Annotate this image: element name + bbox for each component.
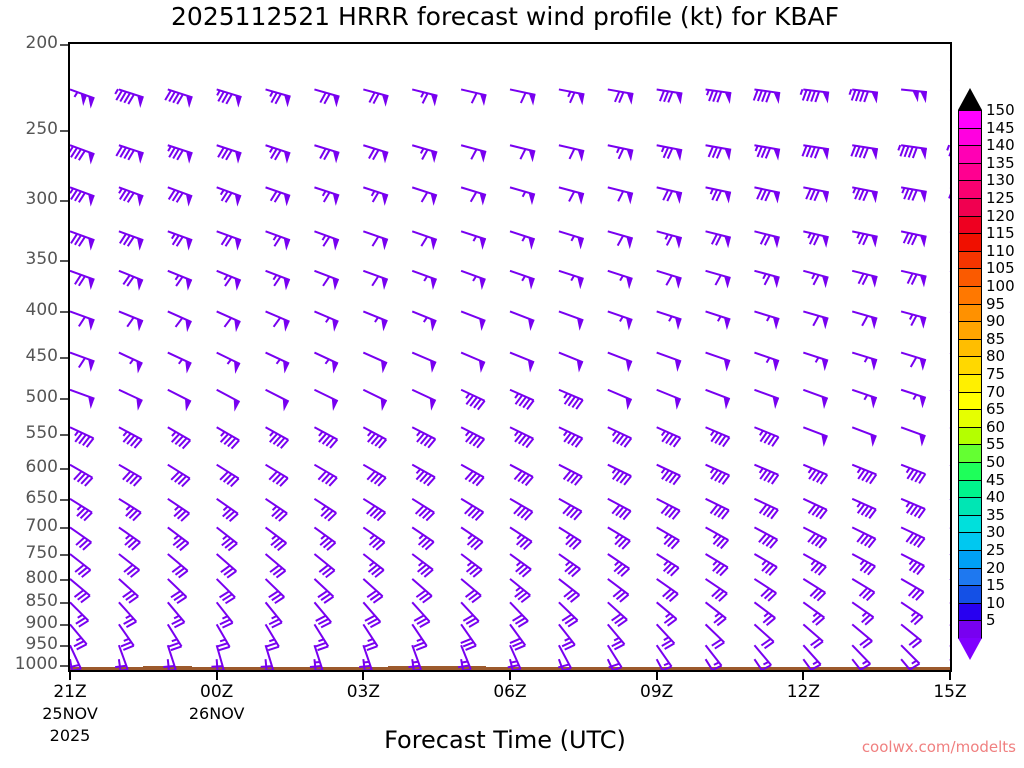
wind-barb xyxy=(947,145,950,160)
wind-barb-half xyxy=(662,431,665,436)
wind-barb-pennant xyxy=(529,193,535,205)
wind-barb xyxy=(706,579,728,601)
wind-barb xyxy=(461,499,483,521)
colorbar-under-arrow xyxy=(958,638,982,660)
wind-barb-pennant xyxy=(431,193,437,206)
wind-barb xyxy=(559,465,582,485)
wind-barb xyxy=(314,311,338,331)
wind-barb-full xyxy=(372,237,378,247)
wind-barb-pennant xyxy=(773,236,780,248)
colorbar-tick-label: 100 xyxy=(986,277,1015,295)
colorbar-tick-label: 145 xyxy=(986,119,1015,137)
wind-barb-half xyxy=(517,535,521,539)
wind-barb xyxy=(168,427,191,448)
wind-barb-full xyxy=(521,93,526,103)
wind-barb-full xyxy=(664,147,669,157)
wind-barb xyxy=(657,624,675,649)
y-axis-tick-label: 350 xyxy=(26,249,58,269)
wind-barb-full xyxy=(709,90,713,101)
y-axis-tick-mark xyxy=(60,260,68,262)
wind-barb-pennant xyxy=(912,91,919,103)
wind-barb xyxy=(412,353,436,373)
x-axis-tick-label: 00Z xyxy=(177,682,257,702)
wind-barb xyxy=(70,527,91,549)
y-axis-tick-label: 400 xyxy=(26,300,58,320)
wind-barb xyxy=(412,271,436,290)
x-axis-tick-mark xyxy=(656,672,658,680)
wind-barb xyxy=(901,271,926,288)
wind-barb xyxy=(217,390,240,412)
wind-barb-full xyxy=(510,669,521,670)
wind-barb-half xyxy=(711,189,713,194)
y-axis-tick-mark xyxy=(60,602,68,604)
wind-barb-half xyxy=(224,506,228,510)
wind-barb-pennant xyxy=(919,396,925,409)
wind-barb xyxy=(119,579,138,603)
y-axis-tick-mark xyxy=(60,357,68,359)
wind-barb xyxy=(754,89,780,104)
colorbar-tick-label: 70 xyxy=(986,383,1005,401)
wind-barb xyxy=(608,527,630,549)
wind-barb xyxy=(852,645,870,670)
page-title: 2025112521 HRRR forecast wind profile (k… xyxy=(0,2,1010,31)
wind-barb-full xyxy=(663,190,668,200)
wind-barb-half xyxy=(168,146,171,151)
wind-barb xyxy=(559,231,584,249)
wind-barb-half xyxy=(909,560,913,564)
wind-barb xyxy=(412,390,436,411)
wind-barb xyxy=(510,231,535,249)
wind-barb-full xyxy=(315,643,326,647)
wind-barb-pennant xyxy=(871,317,877,329)
wind-barb-half xyxy=(419,562,423,566)
wind-barb-full xyxy=(766,92,770,103)
wind-barb xyxy=(168,602,185,627)
wind-barb-half xyxy=(664,637,669,640)
wind-barb xyxy=(412,527,434,549)
wind-barb xyxy=(803,390,827,409)
wind-barb xyxy=(504,659,516,670)
wind-barb xyxy=(217,427,240,448)
wind-barb-half xyxy=(857,503,860,508)
wind-barb xyxy=(852,602,873,624)
wind-barb-half xyxy=(175,506,179,510)
wind-barb xyxy=(510,465,533,486)
wind-barb-half xyxy=(270,148,273,153)
x-axis-title: Forecast Time (UTC) xyxy=(0,726,1010,754)
wind-barb-half xyxy=(714,662,719,664)
wind-barb xyxy=(852,499,876,519)
colorbar-over-arrow xyxy=(958,88,982,110)
wind-barb xyxy=(657,554,679,576)
wind-barb xyxy=(852,271,877,288)
wind-barb xyxy=(168,311,192,332)
wind-barb-full xyxy=(757,189,762,199)
wind-barb xyxy=(510,499,533,520)
wind-barb xyxy=(217,145,242,163)
wind-barb-full xyxy=(471,149,476,159)
wind-barb-pennant xyxy=(577,237,583,249)
x-axis-tick-mark xyxy=(949,672,951,680)
wind-barb xyxy=(461,465,484,486)
wind-barb xyxy=(559,554,580,576)
wind-barb-full xyxy=(79,317,85,326)
wind-barb-pennant xyxy=(529,150,536,162)
wind-barb-pennant xyxy=(627,93,634,105)
wind-barb-half xyxy=(370,535,374,539)
wind-barb-half xyxy=(764,613,768,617)
wind-barb-full xyxy=(813,316,818,326)
wind-barb-half xyxy=(223,536,227,540)
wind-barb-pennant xyxy=(822,92,829,104)
wind-barb-pennant xyxy=(626,277,632,290)
wind-barb-full xyxy=(859,190,864,200)
colorbar-cell xyxy=(958,497,982,516)
wind-barb-half xyxy=(863,661,868,664)
wind-barb-pennant xyxy=(773,276,779,288)
wind-barb-full xyxy=(512,642,522,646)
wind-barb xyxy=(266,89,291,107)
wind-barb xyxy=(363,145,388,163)
wind-barb-full xyxy=(814,190,819,200)
wind-barb xyxy=(70,187,94,206)
colorbar-cell xyxy=(958,321,982,340)
wind-barb xyxy=(901,187,927,202)
watermark: coolwx.com/modelts xyxy=(862,738,1016,756)
y-axis-tick-label: 250 xyxy=(26,119,58,139)
y-axis-tick-label: 850 xyxy=(26,591,58,611)
wind-barb xyxy=(461,89,486,106)
wind-barb-pennant xyxy=(479,237,485,250)
wind-barb-half xyxy=(849,89,851,94)
wind-barb xyxy=(412,624,427,650)
colorbar-tick-label: 105 xyxy=(986,259,1015,277)
wind-barb xyxy=(119,187,143,206)
wind-barb xyxy=(168,353,192,374)
wind-barb-half xyxy=(617,148,619,153)
wind-barb-full xyxy=(814,235,819,245)
wind-barb-half xyxy=(273,275,276,280)
wind-barb-half xyxy=(269,639,274,641)
wind-barb-full xyxy=(852,90,856,101)
wind-barb-pennant xyxy=(822,191,829,203)
wind-barb xyxy=(706,527,729,548)
wind-barb-half xyxy=(615,534,619,538)
wind-barb xyxy=(754,427,778,446)
wind-barb-full xyxy=(912,235,917,245)
wind-barb xyxy=(706,645,722,670)
wind-barb-full xyxy=(862,316,867,326)
wind-barb xyxy=(266,465,288,487)
wind-barb xyxy=(217,579,235,603)
wind-barb xyxy=(754,645,771,670)
wind-barb-full xyxy=(802,146,806,156)
wind-barb-pennant xyxy=(920,358,926,370)
wind-barb xyxy=(852,427,876,447)
wind-barb xyxy=(754,554,777,575)
wind-barb-full xyxy=(863,235,868,245)
wind-barb xyxy=(657,187,682,204)
wind-barb-full xyxy=(716,191,721,201)
wind-barb xyxy=(510,311,534,331)
wind-barb-pennant xyxy=(724,359,730,372)
wind-barb xyxy=(207,659,218,670)
wind-barb xyxy=(803,311,828,329)
wind-barb-pennant xyxy=(773,359,779,372)
wind-barb-half xyxy=(613,469,616,473)
wind-barb-half xyxy=(853,188,855,193)
y-axis-tick-label: 650 xyxy=(26,488,58,508)
y-axis-tick-label: 800 xyxy=(26,568,58,588)
wind-barb-half xyxy=(217,90,220,95)
wind-barb-half xyxy=(763,662,768,665)
wind-barb-half xyxy=(620,276,623,281)
wind-barb-half xyxy=(421,92,423,97)
wind-barb-half xyxy=(898,145,900,150)
wind-barb-full xyxy=(569,191,574,201)
wind-barb-full xyxy=(520,149,525,159)
wind-barb-full xyxy=(668,148,673,158)
wind-barb xyxy=(901,554,924,574)
wind-barb xyxy=(412,427,435,447)
wind-barb-full xyxy=(318,646,329,650)
colorbar-cell xyxy=(958,268,982,287)
wind-barb xyxy=(314,527,335,550)
wind-barb xyxy=(119,427,142,448)
wind-barb xyxy=(901,231,926,247)
wind-barb-pennant xyxy=(382,238,388,251)
plot-inner xyxy=(70,44,950,670)
wind-barb xyxy=(119,602,136,627)
wind-barb-pennant xyxy=(675,236,681,248)
wind-barb xyxy=(849,89,878,103)
wind-barb-half xyxy=(326,318,329,323)
wind-barb xyxy=(706,427,730,446)
wind-barb xyxy=(901,353,926,371)
wind-barb xyxy=(510,527,532,549)
wind-barb-full xyxy=(510,639,520,643)
wind-barb-half xyxy=(906,502,909,507)
wind-barb-half xyxy=(321,535,325,539)
wind-barb-full xyxy=(619,92,623,102)
wind-barb xyxy=(608,499,631,520)
wind-barb-full xyxy=(619,149,624,159)
wind-barb xyxy=(608,390,632,410)
wind-barb-pennant xyxy=(430,238,436,251)
wind-barb xyxy=(706,231,731,248)
wind-barb-pennant xyxy=(284,95,290,107)
y-axis-tick-label: 750 xyxy=(26,543,58,563)
wind-barb xyxy=(461,624,476,650)
wind-barb xyxy=(266,145,291,163)
wind-barb-half xyxy=(221,432,225,436)
wind-barb xyxy=(461,554,482,577)
wind-barb xyxy=(803,527,826,547)
colorbar-cell xyxy=(958,163,982,182)
wind-barb-pennant xyxy=(773,149,780,161)
wind-barb-half xyxy=(174,535,178,539)
wind-barb-half xyxy=(568,92,570,97)
x-axis-tick-label: 06Z xyxy=(470,682,550,702)
wind-barb-half xyxy=(323,191,326,196)
wind-barb-full xyxy=(615,91,619,101)
wind-barb-half xyxy=(417,469,421,473)
wind-barb-full xyxy=(860,147,864,157)
wind-barb xyxy=(217,554,237,578)
wind-barb xyxy=(168,499,190,521)
wind-barb-half xyxy=(910,314,913,319)
wind-barb xyxy=(70,624,87,649)
wind-barb-full xyxy=(757,147,761,157)
wind-barb-half xyxy=(816,358,819,363)
wind-barb xyxy=(510,271,535,290)
wind-barb xyxy=(314,499,336,521)
wind-barb xyxy=(852,353,877,371)
wind-barb-half xyxy=(417,639,422,641)
wind-barb xyxy=(754,579,776,601)
wind-barb-full xyxy=(664,91,668,101)
wind-barb xyxy=(217,353,240,374)
wind-barb-half xyxy=(130,359,133,363)
wind-barb-pennant xyxy=(725,149,732,161)
wind-barb xyxy=(314,624,328,650)
wind-barb-full xyxy=(121,642,131,646)
colorbar-cell xyxy=(958,233,982,252)
wind-barb-full xyxy=(169,643,180,647)
y-axis-tick-mark xyxy=(60,645,68,647)
wind-barb-half xyxy=(175,275,178,280)
wind-barb xyxy=(803,499,827,519)
wind-barb-full xyxy=(712,190,717,200)
wind-barb-full xyxy=(668,92,672,102)
wind-barb xyxy=(306,659,318,670)
wind-barb-half xyxy=(319,432,323,436)
wind-barb-full xyxy=(761,665,771,670)
wind-barb-half xyxy=(665,234,668,239)
wind-barb-pennant xyxy=(870,396,876,409)
wind-barb xyxy=(559,579,579,602)
wind-barb-full xyxy=(949,188,950,198)
wind-barb xyxy=(801,89,830,103)
wind-barb xyxy=(852,465,876,484)
wind-barb xyxy=(119,465,142,486)
wind-barb-half xyxy=(809,468,812,473)
colorbar-cell xyxy=(958,251,982,270)
wind-barb-half xyxy=(172,234,175,239)
x-axis-tick-mark xyxy=(216,672,218,680)
wind-barb-half xyxy=(174,616,179,619)
wind-barb xyxy=(363,499,385,521)
wind-barb-half xyxy=(666,614,670,617)
wind-barb xyxy=(559,311,583,330)
wind-barb xyxy=(852,527,875,547)
wind-barb-half xyxy=(566,534,570,538)
wind-barb-full xyxy=(806,189,811,199)
y-axis-tick-mark xyxy=(60,311,68,313)
wind-barb xyxy=(404,659,416,670)
wind-barb-half xyxy=(571,236,574,241)
wind-barb xyxy=(608,427,632,447)
wind-barb xyxy=(657,271,682,289)
wind-barb xyxy=(314,390,337,411)
colorbar-cell xyxy=(958,110,982,129)
wind-barb xyxy=(116,145,143,163)
wind-barb xyxy=(706,145,732,160)
wind-barb xyxy=(608,89,634,104)
wind-barb xyxy=(165,89,192,107)
wind-barb-half xyxy=(468,535,472,539)
wind-barb-full xyxy=(811,147,815,157)
wind-barb xyxy=(754,187,779,203)
wind-barb-full xyxy=(508,665,519,667)
wind-barb xyxy=(70,353,94,372)
wind-barb-half xyxy=(669,316,672,321)
wind-barb xyxy=(852,624,872,648)
wind-barb xyxy=(115,89,143,108)
y-axis-tick-label: 950 xyxy=(26,634,58,654)
wind-barb xyxy=(559,271,584,290)
wind-barb-half xyxy=(756,146,758,151)
wind-barb xyxy=(608,231,633,249)
wind-barb xyxy=(168,145,193,163)
colorbar-cell xyxy=(958,515,982,534)
wind-barb xyxy=(454,659,466,670)
wind-barb xyxy=(852,579,874,601)
wind-barb xyxy=(119,311,143,331)
wind-barb xyxy=(168,390,191,412)
wind-barb xyxy=(412,499,434,521)
wind-barb xyxy=(217,527,237,550)
wind-barb xyxy=(119,554,139,577)
wind-barb xyxy=(657,602,677,626)
wind-barb xyxy=(461,187,486,205)
wind-barb-full xyxy=(123,646,133,650)
colorbar-tick-label: 140 xyxy=(986,136,1015,154)
wind-barb-half xyxy=(270,92,273,97)
wind-barb-full xyxy=(372,276,378,285)
wind-barb-pennant xyxy=(822,236,829,248)
wind-barb-pennant xyxy=(724,317,730,330)
wind-barb-pennant xyxy=(333,95,339,107)
wind-barb xyxy=(70,554,90,577)
y-axis-tick-mark xyxy=(60,200,68,202)
wind-barb-pennant xyxy=(676,92,683,104)
colorbar-tick-label: 95 xyxy=(986,295,1005,313)
wind-barb xyxy=(168,187,192,206)
wind-barb-pennant xyxy=(822,317,828,329)
wind-barb xyxy=(70,89,94,108)
wind-barb-half xyxy=(424,317,427,322)
wind-barb xyxy=(217,499,238,521)
wind-barb xyxy=(363,427,386,448)
wind-barb-pennant xyxy=(676,149,683,161)
wind-barb-half xyxy=(522,276,525,281)
wind-barb xyxy=(314,353,338,374)
wind-barb-half xyxy=(77,506,81,510)
colorbar-cell xyxy=(958,585,982,604)
wind-barb xyxy=(314,465,337,486)
wind-barb xyxy=(754,353,779,372)
wind-barb xyxy=(119,624,134,650)
wind-barb-half xyxy=(860,560,864,564)
wind-barb-full xyxy=(851,146,855,156)
colorbar-tick-label: 15 xyxy=(986,576,1005,594)
wind-barb-full xyxy=(618,236,623,246)
wind-barb xyxy=(803,187,829,203)
wind-barb-pennant xyxy=(528,277,534,290)
wind-barb-half xyxy=(473,236,476,241)
wind-barb-pennant xyxy=(675,276,681,288)
